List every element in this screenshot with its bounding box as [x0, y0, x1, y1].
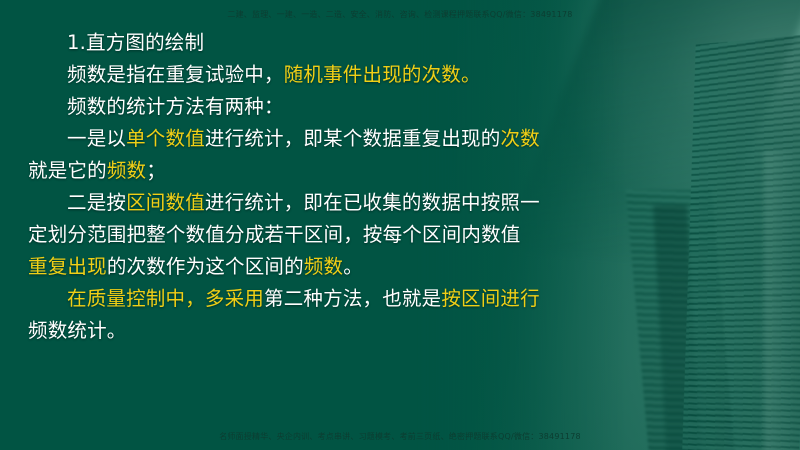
highlighted-text: 区间数值: [126, 191, 205, 214]
body-text: 就是它的: [28, 159, 107, 182]
highlighted-text: 频数: [107, 159, 146, 182]
body-text: 进行统计，即某个数据重复出现的: [205, 127, 501, 150]
slide-title: 1.直方图的绘制: [28, 27, 628, 59]
body-text: 一是以: [67, 127, 126, 150]
presentation-slide: 二建、监理、一建、一造、二造、安全、消防、咨询、检测课程押题联系QQ/微信：38…: [0, 0, 800, 450]
body-text: 的次数作为这个区间的: [107, 255, 304, 278]
body-line: 频数是指在重复试验中，随机事件出现的次数。: [28, 59, 628, 91]
skyscraper-silhouette-mid-dark: [653, 205, 701, 450]
body-line: 在质量控制中，多采用第二种方法，也就是按区间进行: [28, 283, 628, 315]
skyscraper-silhouette-mid: [626, 190, 736, 450]
slide-content: 1.直方图的绘制 频数是指在重复试验中，随机事件出现的次数。频数的统计方法有两种…: [28, 27, 628, 347]
bottom-watermark-banner: 名师面授精华、央企内训、考点串讲、习题模考、考前三页纸、绝密押题联系QQ/微信：…: [0, 431, 800, 442]
body-text: 频数是指在重复试验中，: [67, 63, 284, 86]
body-line: 就是它的频数；: [28, 155, 628, 187]
highlighted-text: 在质量控制中，多采用: [67, 287, 264, 310]
body-text: 频数统计。: [28, 319, 127, 342]
top-watermark-banner: 二建、监理、一建、一造、二造、安全、消防、咨询、检测课程押题联系QQ/微信：38…: [0, 9, 800, 20]
skyscraper-silhouette-right: [682, 34, 800, 450]
body-paragraph-list: 频数是指在重复试验中，随机事件出现的次数。频数的统计方法有两种：一是以单个数值进…: [28, 59, 628, 347]
body-line: 频数的统计方法有两种：: [28, 91, 628, 123]
highlighted-text: 次数: [500, 127, 539, 150]
body-line: 一是以单个数值进行统计，即某个数据重复出现的次数: [28, 123, 628, 155]
highlighted-text: 单个数值: [126, 127, 205, 150]
body-line: 频数统计。: [28, 315, 628, 347]
body-line: 二是按区间数值进行统计，即在已收集的数据中按照一: [28, 187, 628, 219]
skyscraper-highlight-face: [764, 150, 800, 450]
highlighted-text: 频数: [304, 255, 343, 278]
body-text: 。: [343, 255, 363, 278]
body-text: 定划分范围把整个数值分成若干区间，按每个区间内数值: [28, 223, 521, 246]
body-text: ；: [146, 159, 166, 182]
highlighted-text: 随机事件出现的次数。: [284, 63, 481, 86]
body-line: 定划分范围把整个数值分成若干区间，按每个区间内数值: [28, 219, 628, 251]
highlighted-text: 按区间进行: [441, 287, 540, 310]
body-text: 二是按: [67, 191, 126, 214]
body-text: 第二种方法，也就是: [264, 287, 441, 310]
body-text: 频数的统计方法有两种：: [67, 95, 284, 118]
highlighted-text: 重复出现: [28, 255, 107, 278]
body-line: 重复出现的次数作为这个区间的频数。: [28, 251, 628, 283]
body-text: 进行统计，即在已收集的数据中按照一: [205, 191, 540, 214]
